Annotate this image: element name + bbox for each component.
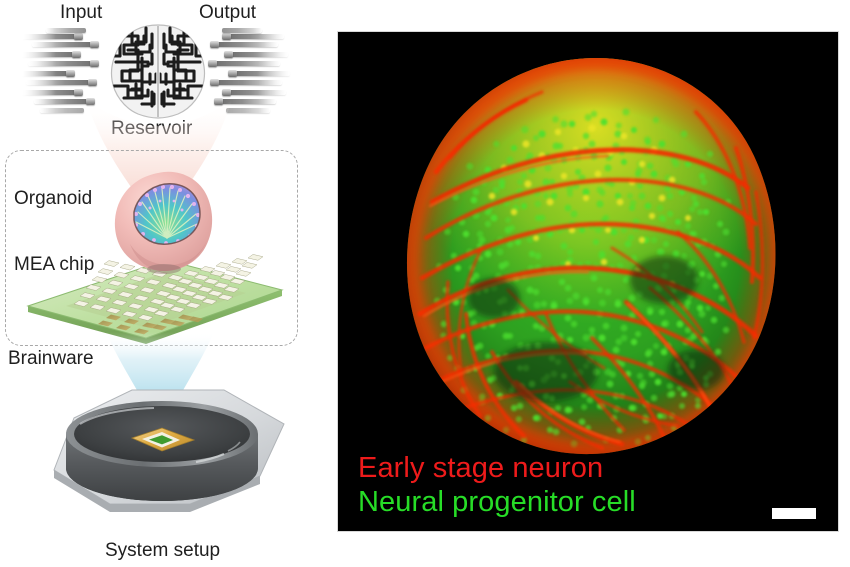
legend-early-stage-neuron: Early stage neuron: [358, 452, 603, 485]
scale-bar: [772, 508, 816, 519]
system-setup-assembly: [28, 372, 300, 522]
brain-organoid-specimen: [396, 52, 796, 464]
output-label: Output: [199, 2, 256, 24]
organoid-label: Organoid: [14, 188, 92, 210]
mea-chip-label: MEA chip: [14, 254, 94, 276]
legend-neural-progenitor-cell: Neural progenitor cell: [358, 486, 636, 519]
input-label: Input: [60, 2, 102, 24]
figure-root: Input Output: [0, 0, 850, 567]
organoid-sphere: [112, 168, 218, 276]
fluorescence-micrograph-panel: Early stage neuron Neural progenitor cel…: [338, 32, 838, 531]
system-setup-label: System setup: [105, 540, 220, 562]
left-schematic-panel: Input Output: [0, 0, 335, 567]
brainware-label: Brainware: [8, 348, 94, 370]
